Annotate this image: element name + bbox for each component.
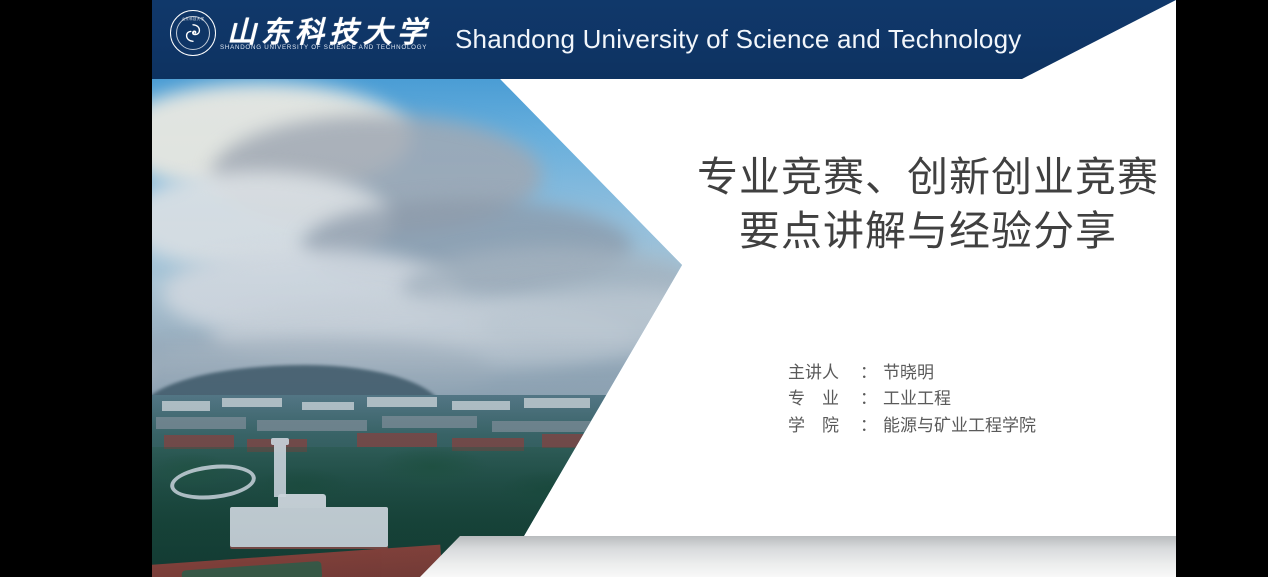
header-title-en: Shandong University of Science and Techn… [455,24,1021,55]
presenter-row-major: 专 业 ： 工业工程 [788,386,1036,412]
emblem-glyph-icon [182,22,204,44]
slide-title-line-1: 专业竞赛、创新创业竞赛 [680,150,1176,204]
presenter-value-college: 能源与矿业工程学院 [883,413,1036,439]
presenter-row-college: 学 院 ： 能源与矿业工程学院 [788,413,1036,439]
presenter-label-major: 专 业 [788,386,860,412]
photo-color-tint [152,79,772,577]
presenter-colon-speaker: ： [860,360,877,386]
slide-bottom-gradient-band [420,536,1176,577]
university-name-en-sub: SHANDONG UNIVERSITY OF SCIENCE AND TECHN… [220,44,427,51]
presenter-colon-college: ： [860,413,877,439]
slide-title: 专业竞赛、创新创业竞赛 要点讲解与经验分享 [680,150,1176,258]
presenter-label-speaker: 主讲人 [788,360,860,386]
emblem-ring-label: 山东科技大学 [182,16,205,21]
screen-root: 山东科技大学 山东科技大学 SHANDONG UNIVERSITY OF SCI… [0,0,1268,577]
presenter-colon-major: ： [860,386,877,412]
presenter-value-speaker: 节晓明 [883,360,934,386]
presenter-info: 主讲人 ： 节晓明 专 业 ： 工业工程 学 院 ： 能源与矿业工程学院 [788,360,1036,439]
presenter-row-speaker: 主讲人 ： 节晓明 [788,360,1036,386]
slide-header-band: 山东科技大学 山东科技大学 SHANDONG UNIVERSITY OF SCI… [152,0,1176,79]
campus-photo [152,79,772,577]
presenter-value-major: 工业工程 [883,386,951,412]
presenter-label-college: 学 院 [788,413,860,439]
university-emblem-icon: 山东科技大学 [170,10,216,56]
presentation-slide: 山东科技大学 山东科技大学 SHANDONG UNIVERSITY OF SCI… [152,0,1176,577]
slide-title-line-2: 要点讲解与经验分享 [680,204,1176,258]
